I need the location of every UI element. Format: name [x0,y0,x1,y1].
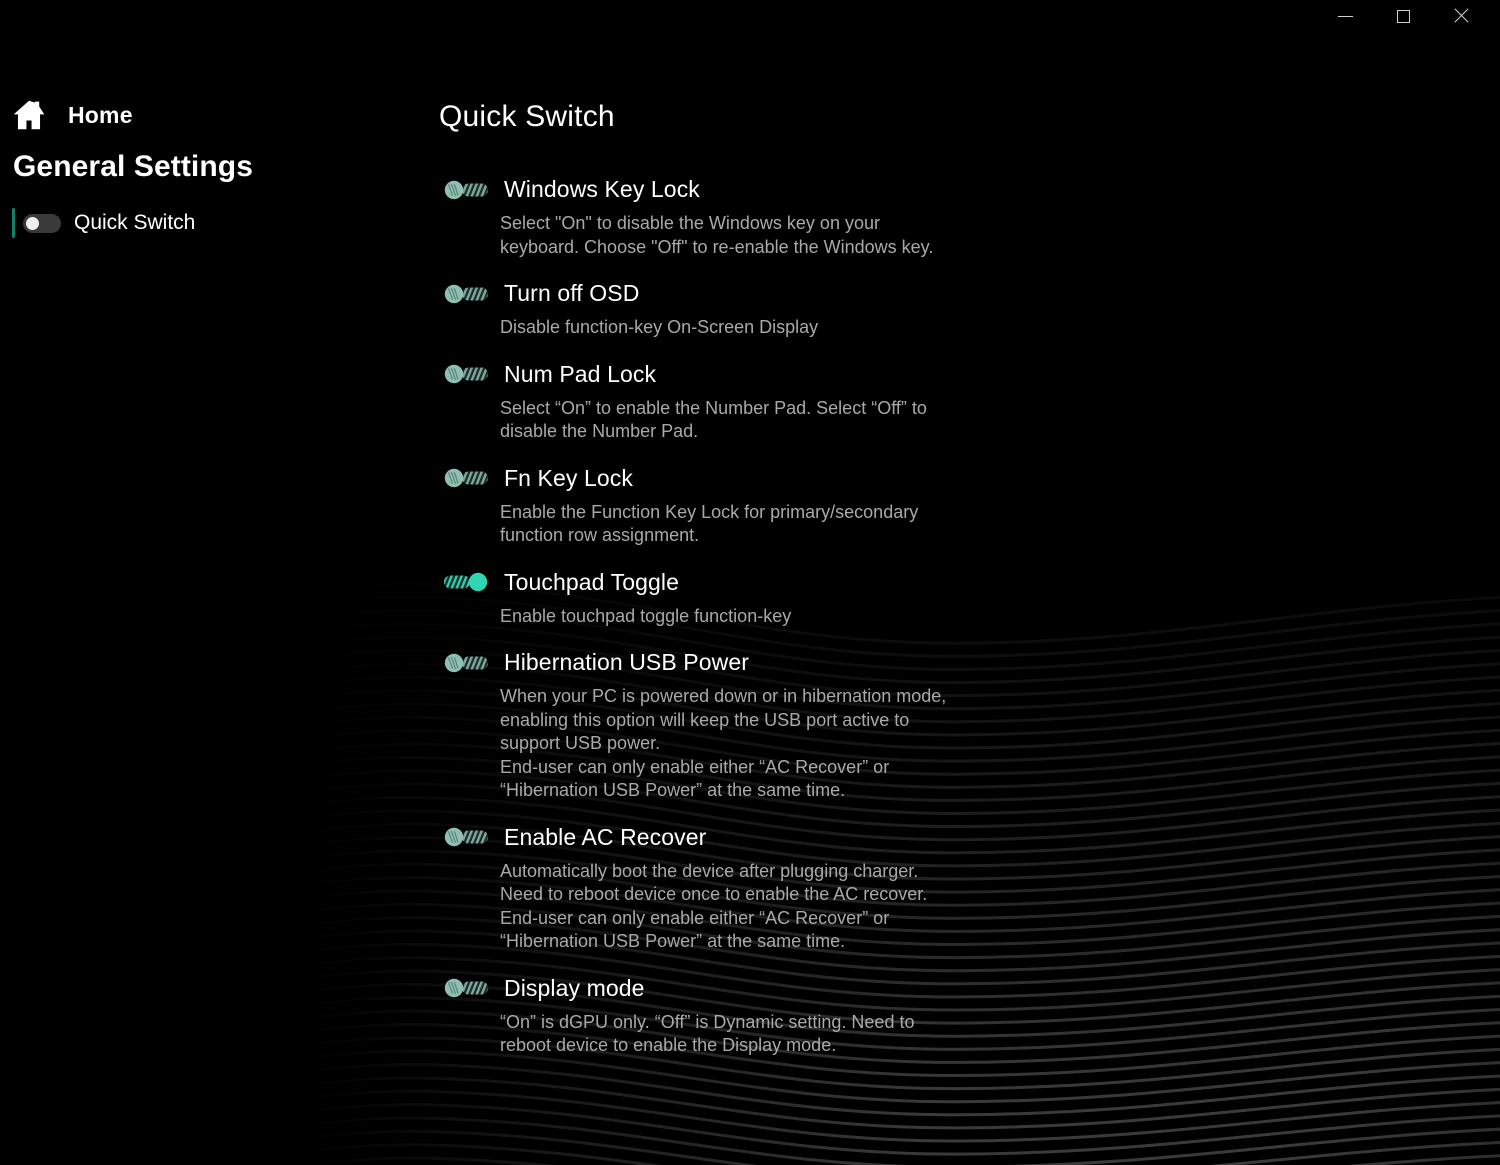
toggle-icon [23,214,61,233]
section-title: General Settings [13,150,253,184]
setting-toggle-off[interactable] [442,468,490,488]
toggle-track [442,978,490,998]
toggle-track [442,364,490,384]
setting-toggle-off[interactable] [442,180,490,200]
setting-header: Hibernation USB Power [438,649,1500,676]
setting-description: Enable the Function Key Lock for primary… [500,501,970,548]
sidebar: Home General Settings Quick Switch [0,0,420,1165]
quick-switch-app: Home General Settings Quick Switch Quick… [0,0,1500,1165]
spacer [438,628,1500,649]
setting-header: Turn off OSD [438,280,1500,307]
setting-label: Hibernation USB Power [504,649,749,676]
setting-header: Touchpad Toggle [438,569,1500,596]
setting-description: Select "On" to disable the Windows key o… [500,212,970,259]
spacer [438,548,1500,569]
setting-label: Touchpad Toggle [504,569,679,596]
title-bar [0,0,1500,44]
setting-description: Disable function-key On-Screen Display [500,316,970,340]
setting-toggle-off[interactable] [442,653,490,673]
main-content: Quick Switch Windows Key LockSelect "On"… [438,0,1500,1165]
setting-header: Num Pad Lock [438,361,1500,388]
setting-header: Windows Key Lock [438,176,1500,203]
setting-item: Fn Key LockEnable the Function Key Lock … [438,465,1500,548]
setting-item: Turn off OSDDisable function-key On-Scre… [438,280,1500,340]
setting-label: Fn Key Lock [504,465,633,492]
page-title: Quick Switch [439,100,615,134]
setting-toggle-off[interactable] [442,827,490,847]
setting-label: Enable AC Recover [504,824,706,851]
setting-label: Turn off OSD [504,280,639,307]
setting-item: Display mode“On” is dGPU only. “Off” is … [438,975,1500,1058]
setting-label: Num Pad Lock [504,361,656,388]
setting-item: Windows Key LockSelect "On" to disable t… [438,176,1500,259]
setting-header: Fn Key Lock [438,465,1500,492]
setting-label: Windows Key Lock [504,176,700,203]
toggle-track [442,284,490,304]
spacer [438,1058,1500,1079]
minimize-icon [1338,16,1353,17]
home-icon [12,98,46,132]
sidebar-item-label: Quick Switch [74,211,195,235]
setting-toggle-off[interactable] [442,978,490,998]
setting-description: “On” is dGPU only. “Off” is Dynamic sett… [500,1011,970,1058]
toggle-track [442,653,490,673]
setting-toggle-on[interactable] [442,572,490,592]
toggle-track [442,180,490,200]
setting-toggle-off[interactable] [442,364,490,384]
close-button[interactable] [1438,0,1484,32]
setting-item: Hibernation USB PowerWhen your PC is pow… [438,649,1500,803]
toggle-track [442,572,490,592]
setting-header: Display mode [438,975,1500,1002]
toggle-track [442,827,490,847]
setting-label: Display mode [504,975,645,1002]
sidebar-item-quick-switch[interactable]: Quick Switch [12,206,272,240]
setting-description: Select “On” to enable the Number Pad. Se… [500,397,970,444]
spacer [438,954,1500,975]
setting-item: Num Pad LockSelect “On” to enable the Nu… [438,361,1500,444]
maximize-icon [1397,10,1410,23]
setting-description: Automatically boot the device after plug… [500,860,970,954]
setting-description: When your PC is powered down or in hiber… [500,685,970,803]
spacer [438,259,1500,280]
setting-item: Touchpad ToggleEnable touchpad toggle fu… [438,569,1500,629]
setting-header: Enable AC Recover [438,824,1500,851]
setting-toggle-off[interactable] [442,284,490,304]
spacer [438,444,1500,465]
setting-item: Enable AC RecoverAutomatically boot the … [438,824,1500,954]
home-button[interactable]: Home [12,98,133,132]
spacer [438,340,1500,361]
maximize-button[interactable] [1380,0,1426,32]
settings-list: Windows Key LockSelect "On" to disable t… [438,176,1500,1079]
selection-indicator [12,208,15,238]
minimize-button[interactable] [1322,0,1368,32]
setting-description: Enable touchpad toggle function-key [500,605,970,629]
toggle-track [442,468,490,488]
home-label: Home [68,102,133,129]
spacer [438,803,1500,824]
close-icon [1453,8,1469,24]
